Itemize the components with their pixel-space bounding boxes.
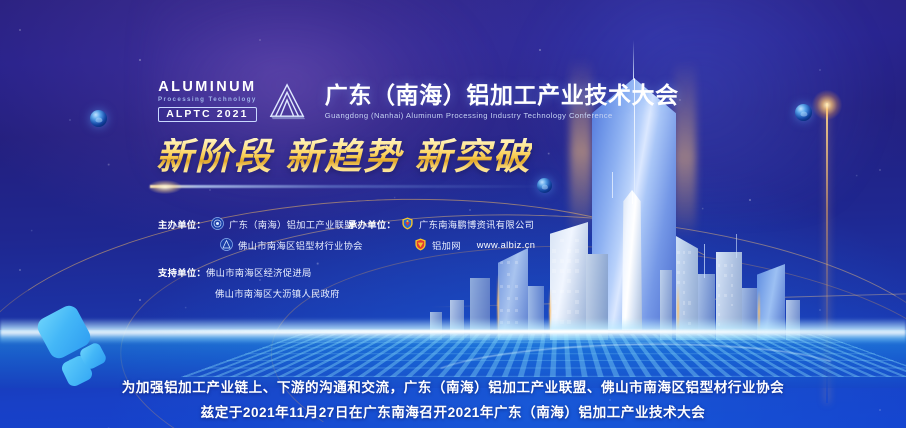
building-window	[718, 284, 721, 287]
building-window	[575, 310, 579, 314]
support-row-2: 佛山市南海区大沥镇人民政府	[158, 282, 458, 303]
building-window	[552, 290, 556, 294]
pengbo-shield-icon	[401, 217, 414, 230]
building-window	[500, 261, 503, 264]
footer-line-1: 为加强铝加工产业链上、下游的沟通和交流，广东（南海）铝加工产业联盟、佛山市南海区…	[122, 376, 784, 396]
building-window	[507, 273, 510, 276]
host-org-2: 佛山市南海区铝型材行业协会	[238, 238, 363, 252]
building-window	[567, 290, 571, 294]
building-window	[515, 297, 518, 300]
building-window	[683, 261, 685, 264]
building-window	[683, 251, 685, 254]
logo-year-badge: ALPTC 2021	[158, 107, 256, 123]
alptc-logo: ALUMINUM Processing Technology ALPTC 202…	[158, 80, 257, 122]
building-window	[677, 261, 679, 264]
building-window	[688, 251, 690, 254]
building-window	[731, 304, 734, 307]
support-org-1: 佛山市南海区经济促进局	[206, 265, 312, 279]
building-window	[552, 269, 556, 273]
building-window	[718, 304, 721, 307]
website-url[interactable]: www.albiz.cn	[466, 240, 536, 250]
building-window	[500, 285, 503, 288]
white-center-tower	[620, 190, 644, 330]
slogan-text: 新阶段 新趋势 新突破	[156, 138, 532, 175]
building-window	[731, 264, 734, 267]
building-window	[731, 294, 734, 297]
building-window	[552, 300, 556, 304]
building-window	[507, 285, 510, 288]
building-window	[683, 271, 685, 274]
building-window	[724, 264, 727, 267]
building-window	[515, 261, 518, 264]
building-window	[575, 300, 579, 304]
building-window	[683, 281, 685, 284]
host-row-2: 佛山市南海区铝型材行业协会	[158, 234, 373, 255]
building-window	[731, 274, 734, 277]
building-window	[515, 285, 518, 288]
building-window	[718, 294, 721, 297]
building-window	[575, 290, 579, 294]
building-window	[552, 259, 556, 263]
slogan-light-flare	[148, 180, 182, 194]
building-window	[507, 309, 510, 312]
host-row-1: 主办单位： 广东（南海）铝加工产业联盟	[158, 213, 373, 234]
building-window	[731, 284, 734, 287]
slogan-light-streak	[150, 185, 550, 188]
building-window	[552, 310, 556, 314]
undertaker-org-1: 广东南海鹏博资讯有限公司	[419, 217, 534, 231]
building-window	[683, 311, 685, 314]
decor-sphere-left	[90, 110, 107, 127]
undertaker-row-2: 铝加网 www.albiz.cn	[348, 234, 608, 255]
aluminum-a-mark-icon	[267, 81, 309, 121]
building-window	[560, 259, 564, 263]
alliance-badge-icon	[211, 217, 224, 230]
building-window	[718, 313, 721, 316]
building-window	[718, 264, 721, 267]
albiz-shield-icon	[414, 238, 427, 251]
central-tower-spire	[633, 40, 634, 80]
antenna-c	[736, 234, 737, 258]
building-window	[677, 271, 679, 274]
building-window	[507, 297, 510, 300]
logo-wordmark: ALUMINUM	[158, 80, 256, 95]
building-window	[575, 259, 579, 263]
building-window	[724, 274, 727, 277]
poster-header: ALUMINUM Processing Technology ALPTC 202…	[158, 80, 679, 122]
building-window	[515, 309, 518, 312]
support-row-1: 支持单位： 佛山市南海区经济促进局	[158, 261, 458, 282]
support-label: 支持单位：	[158, 265, 206, 279]
footer-line-2: 兹定于2021年11月27日在广东南海召开2021年广东（南海）铝加工产业技术大…	[201, 401, 706, 421]
building-window	[567, 259, 571, 263]
building-window	[500, 309, 503, 312]
building-window	[688, 301, 690, 304]
association-badge-icon	[220, 238, 233, 251]
footer-banner: 为加强铝加工产业链上、下游的沟通和交流，广东（南海）铝加工产业联盟、佛山市南海区…	[0, 368, 906, 428]
building-window	[560, 269, 564, 273]
organizer-left-column: 主办单位： 广东（南海）铝加工产业联盟 佛山市南海区铝型材行业协会 支持	[158, 213, 373, 255]
building-window	[567, 269, 571, 273]
conference-title-block: 广东（南海）铝加工产业技术大会 Guangdong (Nanhai) Alumi…	[325, 83, 679, 120]
conference-poster: ALUMINUM Processing Technology ALPTC 202…	[0, 0, 906, 428]
organizer-right-column: 承办单位： 广东南海鹏博资讯有限公司 铝加网 www.albiz.cn	[348, 213, 608, 255]
undertaker-org-2: 铝加网	[432, 238, 461, 252]
antenna-b	[704, 244, 705, 278]
logo-tagline: Processing Technology	[158, 97, 257, 103]
support-org-2: 佛山市南海区大沥镇人民政府	[215, 286, 340, 300]
page-title: 广东（南海）铝加工产业技术大会	[325, 83, 679, 108]
building-window	[683, 291, 685, 294]
antenna-a	[612, 172, 613, 198]
undertaker-row-1: 承办单位： 广东南海鹏博资讯有限公司	[348, 213, 608, 234]
building-window	[567, 279, 571, 283]
building-window	[683, 301, 685, 304]
building-window	[560, 290, 564, 294]
floor-light-streak	[150, 330, 450, 332]
host-label: 主办单位：	[158, 217, 206, 231]
building-window	[575, 269, 579, 273]
building-window	[724, 294, 727, 297]
host-org-1: 广东（南海）铝加工产业联盟	[229, 217, 354, 231]
supporter-group: 支持单位： 佛山市南海区经济促进局 佛山市南海区大沥镇人民政府	[158, 261, 458, 303]
building-window	[567, 310, 571, 314]
building-window	[507, 261, 510, 264]
building-window	[677, 251, 679, 254]
page-subtitle: Guangdong (Nanhai) Aluminum Processing I…	[325, 112, 679, 120]
undertaker-label: 承办单位：	[348, 217, 396, 231]
decor-sphere-right	[795, 104, 812, 121]
